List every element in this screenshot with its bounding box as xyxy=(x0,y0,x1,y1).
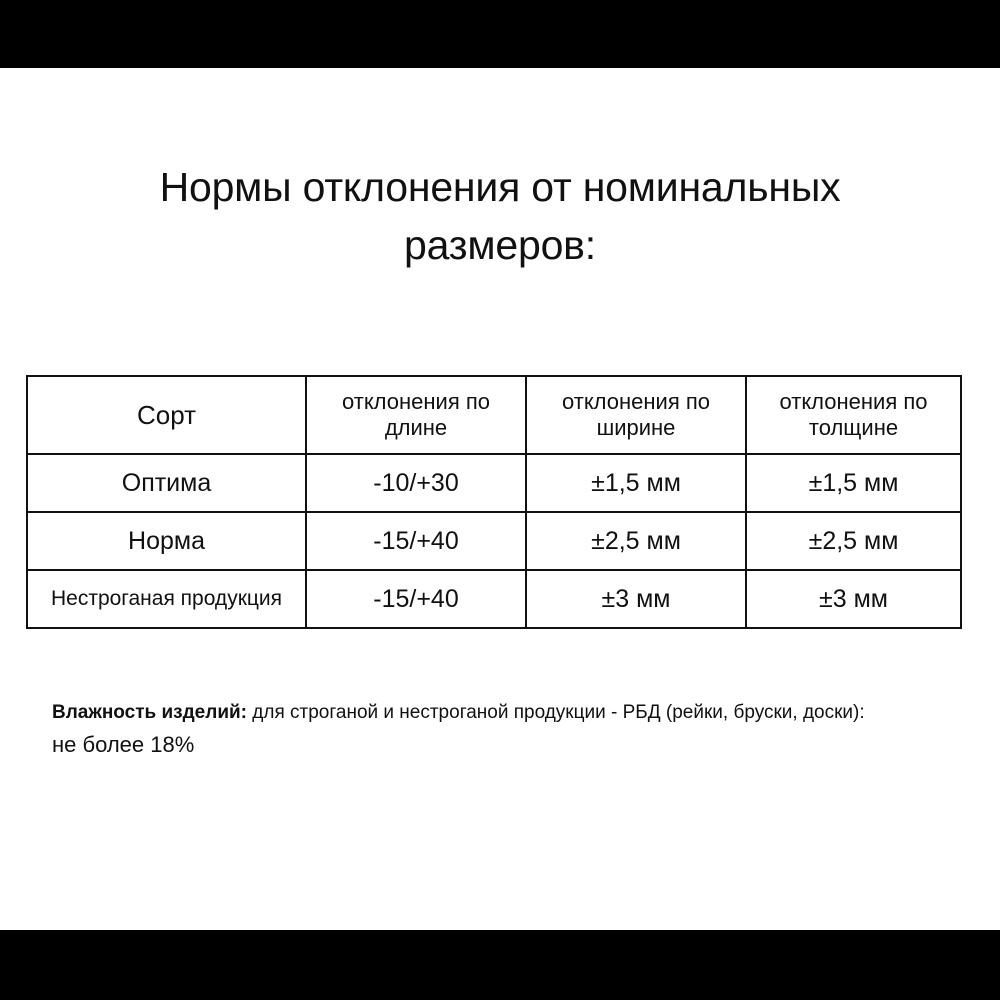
moisture-note-lead: Влажность изделий: xyxy=(52,702,247,723)
cell-thickness-deviation: ±2,5 мм xyxy=(746,512,961,570)
cell-width-deviation: ±1,5 мм xyxy=(526,454,746,512)
slide-canvas: Нормы отклонения от номинальных размеров… xyxy=(0,0,1000,1000)
table-body: Оптима -10/+30 ±1,5 мм ±1,5 мм Норма -15… xyxy=(27,454,961,628)
cell-sort: Нестроганая продукция xyxy=(27,570,306,628)
table-header: Сорт отклонения по длине отклонения по ш… xyxy=(27,376,961,454)
cell-sort: Оптима xyxy=(27,454,306,512)
page-title: Нормы отклонения от номинальных размеров… xyxy=(60,158,940,274)
cell-thickness-deviation: ±1,5 мм xyxy=(746,454,961,512)
column-header-thickness-deviation: отклонения по толщине xyxy=(746,376,961,454)
cell-thickness-deviation: ±3 мм xyxy=(746,570,961,628)
cell-length-deviation: -10/+30 xyxy=(306,454,526,512)
column-header-sort: Сорт xyxy=(27,376,306,454)
page-title-line-2: размеров: xyxy=(60,216,940,274)
cell-length-deviation: -15/+40 xyxy=(306,570,526,628)
table-row: Норма -15/+40 ±2,5 мм ±2,5 мм xyxy=(27,512,961,570)
table-header-row: Сорт отклонения по длине отклонения по ш… xyxy=(27,376,961,454)
letterbox-bottom-bar xyxy=(0,930,1000,1000)
table-row: Оптима -10/+30 ±1,5 мм ±1,5 мм xyxy=(27,454,961,512)
cell-width-deviation: ±3 мм xyxy=(526,570,746,628)
moisture-note-line-2: не более 18% xyxy=(52,729,942,761)
slide-content-area: Нормы отклонения от номинальных размеров… xyxy=(0,68,1000,930)
cell-length-deviation: -15/+40 xyxy=(306,512,526,570)
column-header-width-deviation: отклонения по ширине xyxy=(526,376,746,454)
cell-sort: Норма xyxy=(27,512,306,570)
moisture-note-rest: для строганой и нестроганой продукции - … xyxy=(247,702,865,723)
table-row: Нестроганая продукция -15/+40 ±3 мм ±3 м… xyxy=(27,570,961,628)
column-header-length-deviation: отклонения по длине xyxy=(306,376,526,454)
cell-width-deviation: ±2,5 мм xyxy=(526,512,746,570)
page-title-line-1: Нормы отклонения от номинальных xyxy=(60,158,940,216)
letterbox-top-bar xyxy=(0,0,1000,68)
moisture-note: Влажность изделий: для строганой и нестр… xyxy=(52,700,942,761)
deviation-norms-table: Сорт отклонения по длине отклонения по ш… xyxy=(26,375,962,629)
moisture-note-line-1: Влажность изделий: для строганой и нестр… xyxy=(52,700,942,726)
